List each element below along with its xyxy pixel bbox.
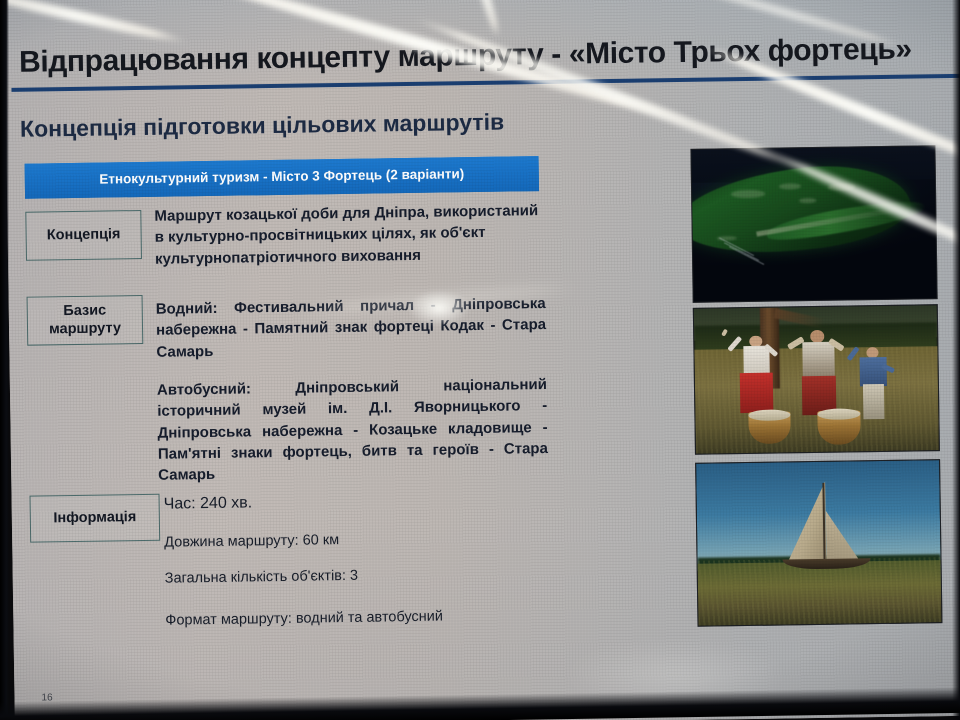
- info-object-count: Загальна кількість об'єктів: 3: [165, 568, 359, 587]
- slide-page-number: 16: [41, 692, 52, 703]
- cossack-drummers-photo: [693, 304, 940, 455]
- slide-subtitle: Концепція підготовки цільових маршрутів: [20, 109, 504, 143]
- slide-surface: Відпрацювання концепту маршруту - «Місто…: [4, 0, 960, 720]
- label-box-concept: Концепція: [25, 210, 142, 261]
- slide-content: Відпрацювання концепту маршруту - «Місто…: [4, 0, 960, 720]
- concept-text: Маршрут козацької доби для Дніпра, викор…: [154, 200, 543, 270]
- route-banner-label: Етнокультурний туризм - Місто 3 Фортець …: [25, 165, 539, 188]
- sailing-boat-photo: [695, 459, 942, 627]
- route-banner: Етнокультурний туризм - Місто 3 Фортець …: [25, 156, 539, 199]
- aerial-island-photo: [690, 145, 937, 303]
- photograph-of-presentation-screen: Відпрацювання концепту маршруту - «Місто…: [0, 0, 960, 720]
- info-format: Формат маршруту: водний та автобусний: [165, 609, 443, 629]
- basis-bus-text: Автобусний: Дніпровський національний іс…: [157, 374, 549, 486]
- label-box-basis: Базис маршруту: [27, 295, 144, 346]
- slide-title: Відпрацювання концепту маршруту - «Місто…: [19, 32, 959, 80]
- info-duration: Час: 240 хв.: [164, 494, 253, 513]
- info-length: Довжина маршруту: 60 км: [164, 532, 339, 551]
- label-box-information: Інформація: [30, 494, 161, 543]
- basis-water-text: Водний: Фестивальний причал - Дніпровськ…: [156, 293, 547, 363]
